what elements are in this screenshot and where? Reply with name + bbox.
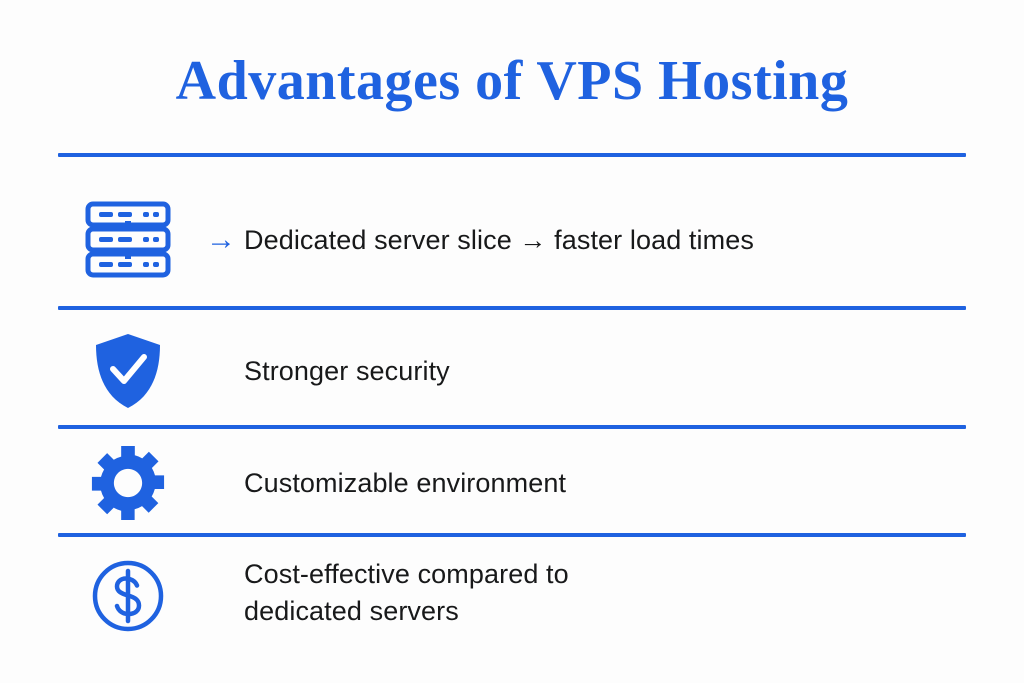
divider-1 xyxy=(58,153,966,157)
shield-check-icon xyxy=(58,332,198,410)
advantage-text-1: Dedicated server slice → faster load tim… xyxy=(244,222,966,259)
row-arrow-icon: → xyxy=(198,225,244,255)
advantage-text-4-line2: dedicated servers xyxy=(244,593,966,630)
advantage-row-2: Stronger security xyxy=(58,322,966,420)
advantage-row-1: → Dedicated server slice → faster load t… xyxy=(58,180,966,300)
advantage-text-2: Stronger security xyxy=(244,353,966,390)
page-title: Advantages of VPS Hosting xyxy=(0,52,1024,111)
advantage-row-3: Customizable environment xyxy=(58,438,966,528)
dollar-circle-icon xyxy=(58,546,198,634)
advantage-row-4: Cost-effective compared to dedicated ser… xyxy=(58,546,966,656)
divider-3 xyxy=(58,425,966,429)
server-rack-icon xyxy=(58,201,198,279)
divider-4 xyxy=(58,533,966,537)
gear-icon xyxy=(58,444,198,522)
advantage-text-4: Cost-effective compared to dedicated ser… xyxy=(244,546,966,629)
advantage-text-4-line1: Cost-effective compared to xyxy=(244,556,966,593)
divider-2 xyxy=(58,306,966,310)
advantage-text-3: Customizable environment xyxy=(244,465,966,502)
advantage-text-1-after: faster load times xyxy=(547,225,754,255)
vps-advantages-infographic: Advantages of VPS Hosting xyxy=(0,0,1024,683)
title-block: Advantages of VPS Hosting xyxy=(0,52,1024,111)
advantage-text-1-before: Dedicated server slice xyxy=(244,225,519,255)
inline-arrow-icon: → xyxy=(519,225,546,255)
